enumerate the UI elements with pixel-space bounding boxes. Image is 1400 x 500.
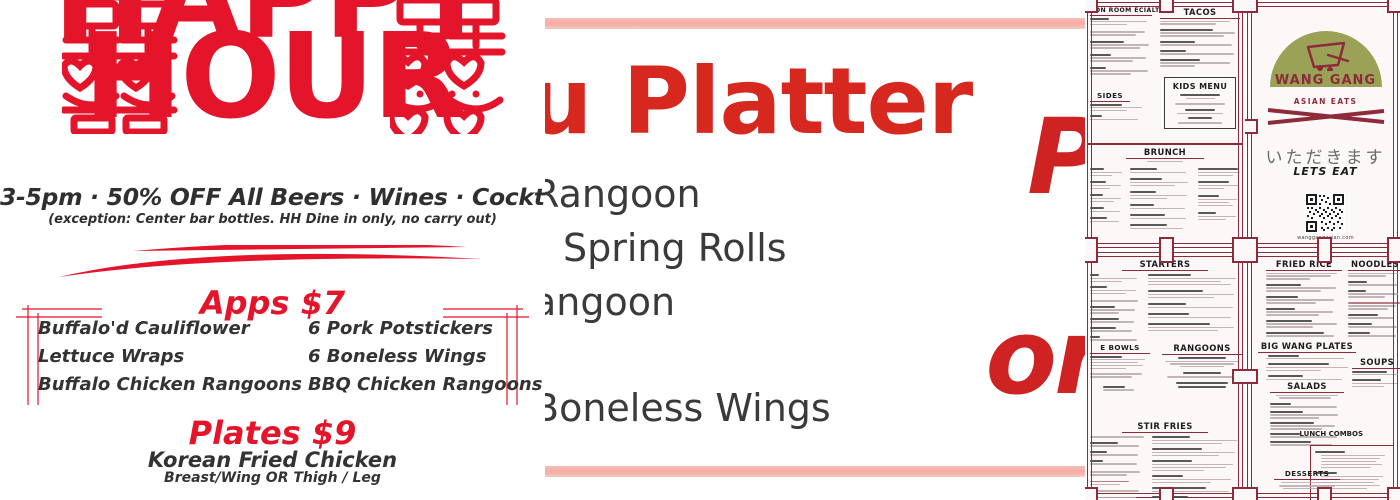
corner-knot-icon bbox=[1159, 250, 1174, 263]
apps-item: Buffalo'd Cauliflower bbox=[38, 316, 308, 341]
red-slab-text-on: on bbox=[986, 296, 1086, 418]
section-body-text bbox=[1130, 167, 1192, 231]
crossed-chopsticks-icon bbox=[1266, 107, 1386, 127]
logo-dome-shape bbox=[1270, 31, 1382, 87]
section-body-text bbox=[1258, 355, 1356, 381]
apps-item: Lettuce Wraps bbox=[38, 344, 308, 369]
corner-knot-icon bbox=[1085, 487, 1098, 500]
section-body-text bbox=[1348, 273, 1400, 337]
section-heading: E BOWLS bbox=[1090, 343, 1150, 354]
bottom-pink-bar bbox=[545, 466, 1085, 477]
section-body-text bbox=[1311, 446, 1393, 489]
section-heading: SON ROOM ECIALTIES bbox=[1090, 7, 1152, 16]
plates-options: Breast/Wing OR Thigh / Leg bbox=[0, 470, 545, 486]
corner-knot-icon bbox=[1232, 0, 1245, 13]
corner-knot-icon bbox=[1159, 237, 1174, 250]
brand-tagline: ASIAN EATS bbox=[1248, 97, 1400, 106]
section-body-text bbox=[1270, 395, 1344, 446]
menu-thumb-starters-stirfries[interactable]: STARTERS bbox=[1085, 250, 1245, 500]
corner-knot-icon bbox=[1317, 487, 1332, 500]
section-body-text bbox=[1162, 357, 1242, 388]
corner-knot-icon bbox=[1245, 487, 1258, 500]
apps-item: BBQ Chicken Rangoons bbox=[308, 372, 518, 397]
section-heading: KIDS MENU bbox=[1171, 82, 1229, 92]
corner-knot-icon bbox=[1245, 237, 1258, 250]
image-gallery-strip: HAPPY HOUR bbox=[0, 0, 1400, 500]
corner-knot-icon bbox=[1232, 237, 1245, 250]
menu-thumb-logo-cover[interactable]: WANG GANG ASIAN EATS いただきます LETS EAT bbox=[1245, 0, 1400, 250]
corner-knot-icon bbox=[1232, 250, 1245, 263]
section-body-text bbox=[1160, 21, 1240, 67]
japanese-phrase: いただきます bbox=[1248, 143, 1400, 168]
platter-item: Rangoon bbox=[545, 172, 701, 216]
section-heading: BIG WANG PLATES bbox=[1258, 341, 1356, 353]
happy-hour-flyer[interactable]: HAPPY HOUR bbox=[0, 0, 545, 500]
double-happiness-glyph-left bbox=[62, 0, 182, 134]
platter-item: Boneless Wings bbox=[545, 386, 831, 430]
section-body-text bbox=[1266, 273, 1342, 337]
happy-hour-note: (exception: Center bar bottles. HH Dine … bbox=[0, 212, 545, 227]
corner-knot-icon bbox=[1159, 0, 1174, 13]
plates-item: Korean Fried Chicken bbox=[0, 448, 545, 472]
section-heading: SALADS bbox=[1270, 381, 1344, 393]
corner-knot-icon bbox=[1245, 0, 1258, 13]
apps-list: Buffalo'd Cauliflower 6 Pork Potstickers… bbox=[38, 316, 518, 397]
corner-knot-icon bbox=[1317, 250, 1332, 263]
platter-item: angoon bbox=[545, 280, 675, 324]
corner-knot-icon bbox=[1232, 369, 1245, 384]
corner-knot-icon bbox=[1159, 487, 1174, 500]
menu-thumbnail-grid: SON ROOM ECIALTIES SIDES bbox=[1085, 0, 1400, 500]
section-body-text bbox=[1090, 18, 1152, 75]
menu-thumb-rice-noodles-plates[interactable]: FRIED RICE NOODLES bbox=[1245, 250, 1400, 500]
top-pink-bar bbox=[545, 18, 1085, 29]
section-heading: SIDES bbox=[1090, 91, 1130, 102]
corner-knot-icon bbox=[1245, 250, 1258, 263]
happy-hour-logo: HAPPY HOUR bbox=[0, 0, 545, 176]
corner-knot-icon bbox=[1085, 237, 1098, 250]
section-heading: DESSERTS bbox=[1274, 469, 1340, 480]
section-heading: SOUPS bbox=[1352, 357, 1400, 369]
qr-code[interactable] bbox=[1305, 193, 1345, 233]
section-body-text bbox=[1352, 371, 1400, 388]
apps-item: 6 Boneless Wings bbox=[308, 344, 518, 369]
section-body-text bbox=[1090, 435, 1146, 500]
section-body-text bbox=[1090, 356, 1150, 392]
section-body-text bbox=[1165, 94, 1235, 124]
section-heading: RANGOONS bbox=[1162, 343, 1242, 355]
section-heading: LUNCH COMBOS bbox=[1273, 430, 1363, 438]
plates-section-title: Plates $9 bbox=[0, 414, 545, 452]
corner-knot-icon bbox=[1245, 369, 1258, 384]
section-body-text bbox=[1090, 167, 1124, 224]
happy-hour-subtitle: 3-5pm · 50% OFF All Beers · Wines · Cock… bbox=[0, 183, 545, 211]
brand-name: WANG GANG bbox=[1248, 73, 1400, 88]
apps-item: 6 Pork Potstickers bbox=[308, 316, 518, 341]
double-happiness-glyph-right bbox=[390, 0, 510, 134]
kids-menu-box: KIDS MENU bbox=[1164, 77, 1236, 129]
section-heading: STIR FRIES bbox=[1122, 421, 1208, 433]
red-slab-text-pi: Pi bbox=[1027, 96, 1085, 218]
corner-knot-icon bbox=[1317, 237, 1332, 250]
section-body-text bbox=[1198, 167, 1242, 222]
corner-knot-icon bbox=[1232, 487, 1245, 500]
corner-knot-icon bbox=[1387, 0, 1400, 13]
lets-eat-text: LETS EAT bbox=[1248, 165, 1400, 178]
corner-knot-icon bbox=[1245, 119, 1258, 134]
section-body-text bbox=[1090, 273, 1142, 342]
corner-knot-icon bbox=[1387, 250, 1400, 263]
wok-icon bbox=[1304, 41, 1350, 71]
corner-knot-icon bbox=[1085, 250, 1098, 263]
corner-knot-icon bbox=[1387, 487, 1400, 500]
platter-flyer[interactable]: u Platter Rangoon Spring Rolls angoon Bo… bbox=[545, 0, 1085, 500]
corner-knot-icon bbox=[1085, 0, 1098, 13]
section-body-text bbox=[1148, 273, 1242, 333]
red-swoosh-divider bbox=[55, 245, 485, 287]
section-heading: BRUNCH bbox=[1126, 147, 1204, 159]
apps-item: Buffalo Chicken Rangoons bbox=[38, 372, 308, 397]
menu-thumb-brunch-specialties[interactable]: SON ROOM ECIALTIES SIDES bbox=[1085, 0, 1245, 250]
platter-title: u Platter bbox=[545, 48, 1085, 155]
corner-knot-icon bbox=[1387, 237, 1400, 250]
platter-item: Spring Rolls bbox=[563, 226, 787, 270]
section-body-text bbox=[1090, 104, 1152, 121]
